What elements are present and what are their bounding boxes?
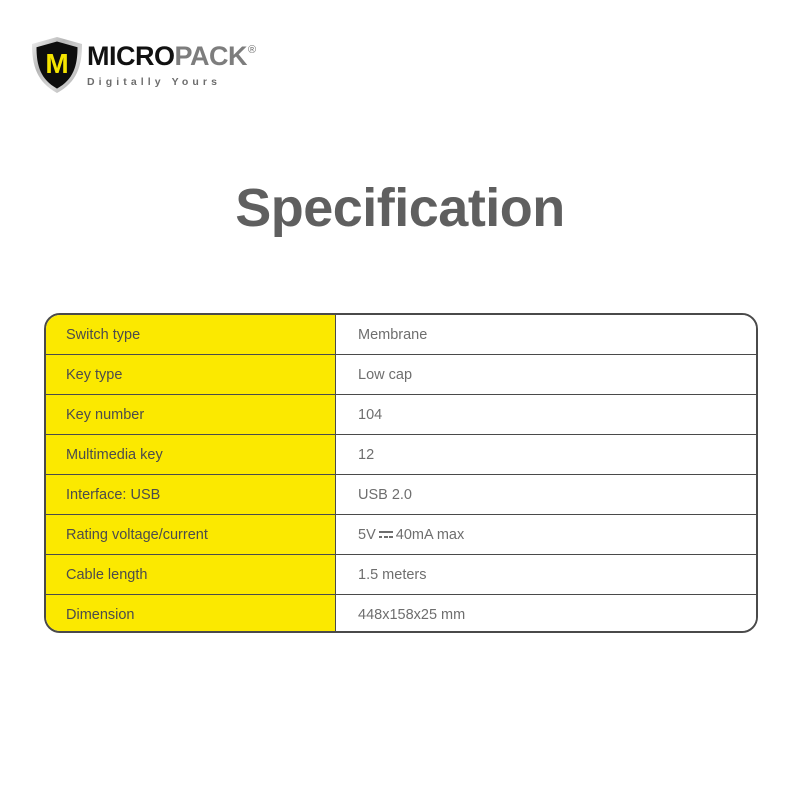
brand-logo: M MICROPACK® Digitally Yours — [30, 36, 270, 98]
spec-label: Cable length — [46, 555, 336, 594]
dc-voltage-symbol — [379, 530, 393, 539]
table-row: Interface: USB USB 2.0 — [46, 475, 756, 515]
svg-text:M: M — [45, 48, 68, 79]
page-title: Specification — [0, 177, 800, 239]
specification-table: Switch type Membrane Key type Low cap Ke… — [44, 313, 758, 633]
spec-value: Membrane — [336, 315, 756, 354]
table-row: Key type Low cap — [46, 355, 756, 395]
spec-value: USB 2.0 — [336, 475, 756, 514]
spec-label: Multimedia key — [46, 435, 336, 474]
spec-value: Low cap — [336, 355, 756, 394]
spec-value: 448x158x25 mm — [336, 595, 756, 633]
registered-trademark-icon: ® — [248, 44, 256, 56]
spec-value: 104 — [336, 395, 756, 434]
table-row: Dimension 448x158x25 mm — [46, 595, 756, 633]
spec-label: Dimension — [46, 595, 336, 633]
table-row: Key number 104 — [46, 395, 756, 435]
table-row: Cable length 1.5 meters — [46, 555, 756, 595]
spec-label: Rating voltage/current — [46, 515, 336, 554]
spec-label: Interface: USB — [46, 475, 336, 514]
shield-m-icon: M — [30, 36, 84, 94]
spec-value-rating: 5V 40mA max — [336, 515, 756, 554]
table-row: Switch type Membrane — [46, 315, 756, 355]
brand-tagline: Digitally Yours — [87, 76, 277, 88]
table-row: Rating voltage/current 5V 40mA max — [46, 515, 756, 555]
brand-name: MICROPACK® — [87, 43, 277, 70]
brand-name-dark: MICRO — [87, 41, 175, 71]
spec-label: Switch type — [46, 315, 336, 354]
brand-name-gray: PACK — [175, 41, 248, 71]
rating-current-suffix: 40mA max — [396, 527, 465, 543]
table-row: Multimedia key 12 — [46, 435, 756, 475]
spec-label: Key number — [46, 395, 336, 434]
spec-value: 12 — [336, 435, 756, 474]
rating-voltage-prefix: 5V — [358, 527, 376, 543]
spec-value: 1.5 meters — [336, 555, 756, 594]
spec-label: Key type — [46, 355, 336, 394]
brand-wordmark: MICROPACK® Digitally Yours — [87, 43, 277, 88]
